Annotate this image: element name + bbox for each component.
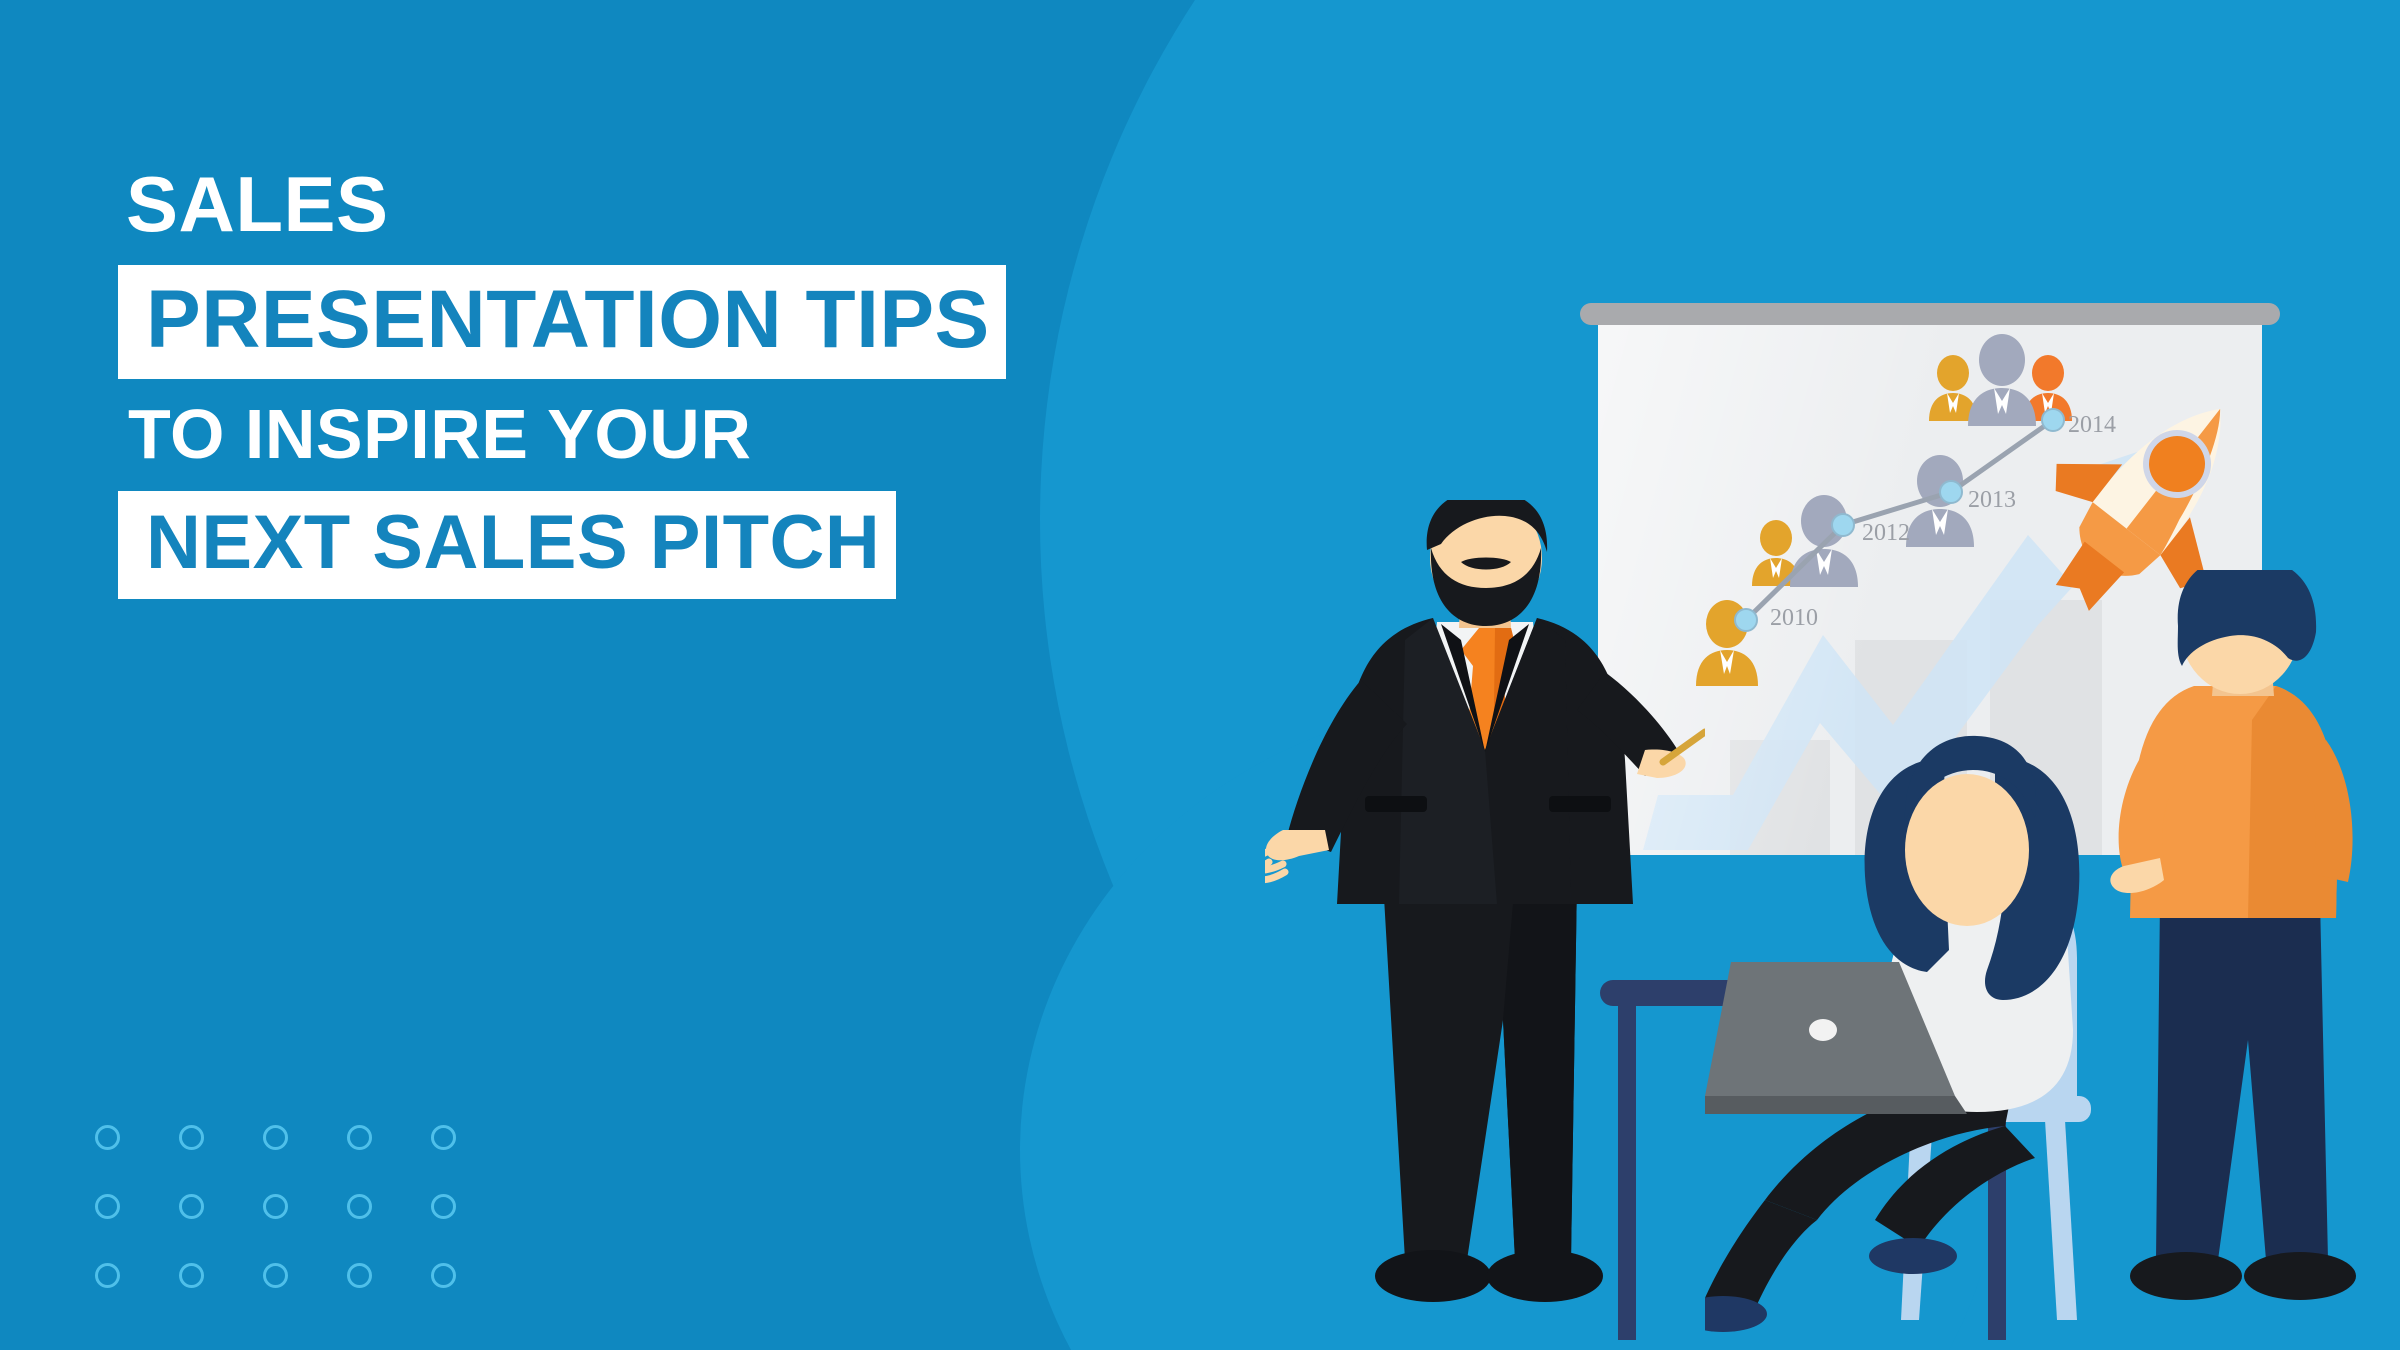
chart-tick-label-2010: 2010 bbox=[1770, 605, 1818, 632]
title-line-2: PRESENTATION TIPS bbox=[118, 265, 1006, 379]
chart-point-2010 bbox=[1735, 609, 1757, 631]
dot-circle bbox=[179, 1125, 204, 1150]
dot-circle bbox=[347, 1194, 372, 1219]
dot-circle bbox=[179, 1194, 204, 1219]
face bbox=[1905, 774, 2029, 926]
chart-tick-label-2012: 2012 bbox=[1862, 520, 1910, 547]
whiteboard-top-rail bbox=[1580, 303, 2280, 325]
dot-circle bbox=[263, 1263, 288, 1288]
dot-circle bbox=[431, 1263, 456, 1288]
chart-point-2012 bbox=[1832, 514, 1854, 536]
shoe-right bbox=[1487, 1250, 1603, 1302]
dot-circle bbox=[95, 1125, 120, 1150]
title-line-3: TO INSPIRE YOUR bbox=[118, 399, 1118, 469]
dot-circle bbox=[431, 1194, 456, 1219]
title-line-4: NEXT SALES PITCH bbox=[118, 491, 896, 599]
dot-circle bbox=[347, 1125, 372, 1150]
dot-circle bbox=[431, 1125, 456, 1150]
laptop-logo bbox=[1809, 1019, 1837, 1041]
dot-circle bbox=[263, 1125, 288, 1150]
decorative-dot-grid bbox=[95, 1125, 515, 1332]
dot-circle bbox=[179, 1263, 204, 1288]
poster-canvas: SALES PRESENTATION TIPS TO INSPIRE YOUR … bbox=[0, 0, 2400, 1350]
trousers bbox=[2156, 900, 2328, 1260]
standing-man bbox=[2090, 570, 2390, 1350]
chart-tick-label-2013: 2013 bbox=[1968, 487, 2016, 514]
chart-point-2013 bbox=[1940, 481, 1962, 503]
shoe-left bbox=[2130, 1252, 2242, 1300]
presenter-man bbox=[1265, 500, 1705, 1340]
shoe-left bbox=[1375, 1250, 1491, 1302]
shoe-right bbox=[1869, 1238, 1957, 1274]
dot-circle bbox=[347, 1263, 372, 1288]
dot-circle bbox=[95, 1194, 120, 1219]
page-title: SALES PRESENTATION TIPS TO INSPIRE YOUR … bbox=[118, 165, 1118, 599]
dot-circle bbox=[263, 1194, 288, 1219]
title-line-1: SALES bbox=[118, 165, 1118, 243]
hand-left bbox=[1266, 830, 1329, 860]
dot-circle bbox=[95, 1263, 120, 1288]
shoe-right bbox=[2244, 1252, 2356, 1300]
